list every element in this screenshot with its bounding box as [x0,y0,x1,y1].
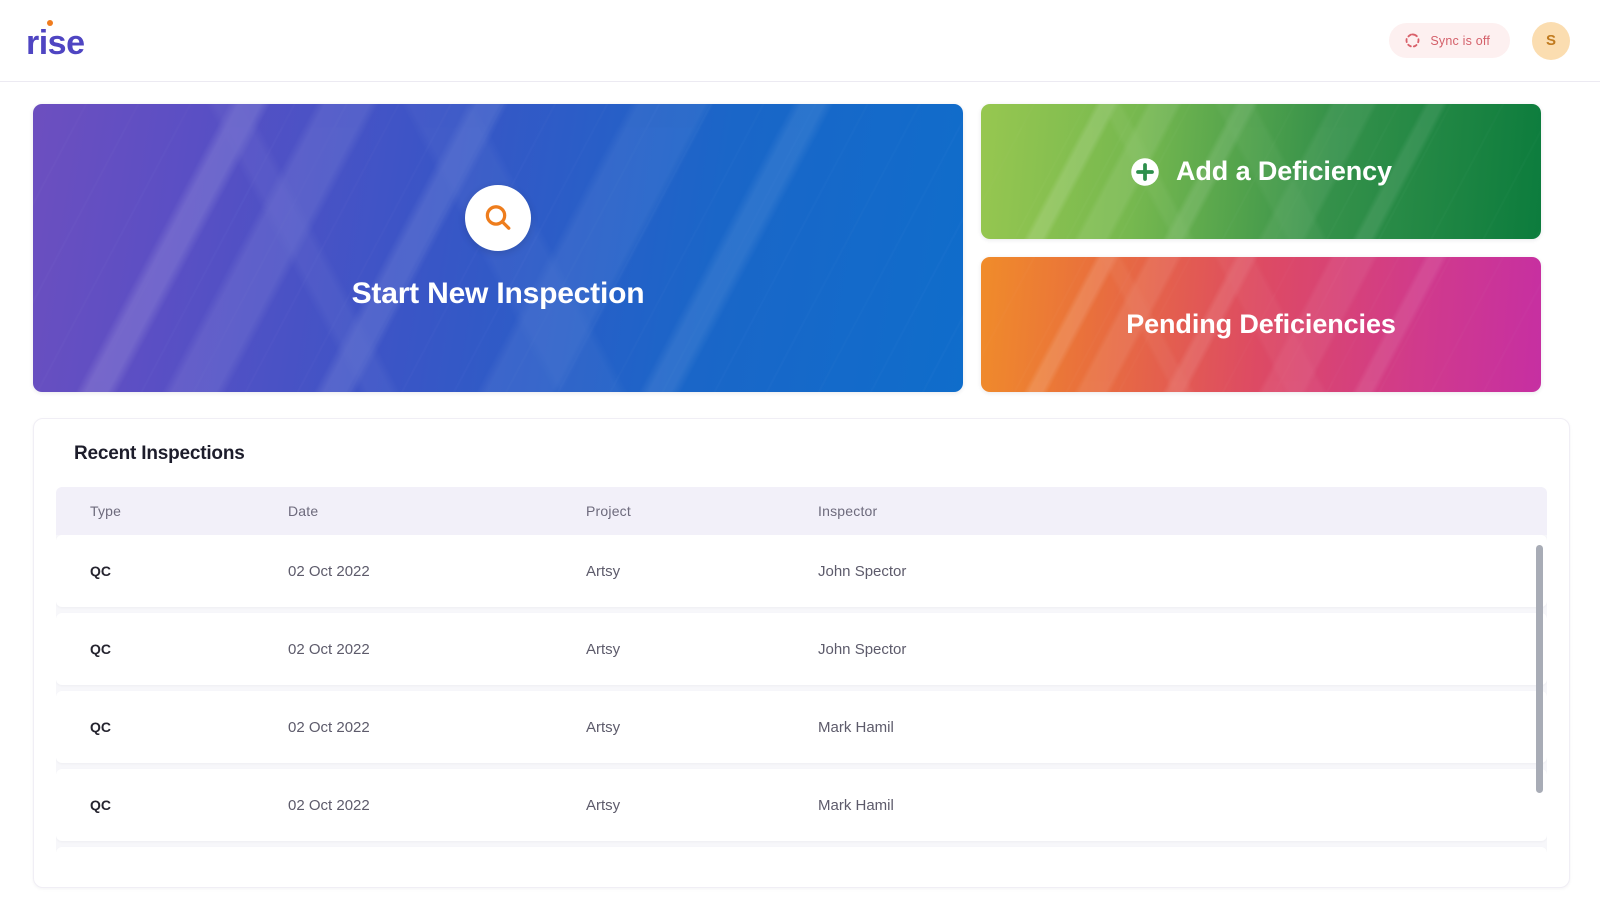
cell-type: QC [56,719,288,735]
cell-date: 02 Oct 2022 [288,719,586,736]
secondary-tiles: Add a Deficiency Pending Deficiencies [981,104,1541,392]
cell-inspector: Mark Hamil [818,797,1547,814]
sync-off-icon [1404,32,1421,49]
table-body[interactable]: QC 02 Oct 2022 Artsy John Spector QC 02 … [56,535,1547,865]
cell-date: 02 Oct 2022 [288,797,586,814]
rise-logo[interactable]: rise [26,22,85,60]
pending-deficiencies-content: Pending Deficiencies [1126,309,1396,340]
pending-deficiencies-tile[interactable]: Pending Deficiencies [981,257,1541,392]
add-deficiency-label: Add a Deficiency [1176,156,1392,187]
cell-date: 02 Oct 2022 [288,641,586,658]
cell-type: QC [56,563,288,579]
column-header-type: Type [56,503,288,519]
plus-circle-icon [1130,157,1160,187]
table-scrollbar[interactable] [1536,545,1543,871]
table-row[interactable]: QC 02 Oct 2022 Artsy John Spector [56,613,1547,685]
avatar[interactable]: S [1532,22,1570,60]
column-header-date: Date [288,503,586,519]
avatar-initial: S [1546,32,1556,49]
cell-inspector: John Spector [818,641,1547,658]
pending-deficiencies-label: Pending Deficiencies [1126,309,1396,339]
cell-project: Artsy [586,797,818,814]
start-new-inspection-label: Start New Inspection [352,277,645,311]
table-row[interactable]: QC 02 Oct 2022 Artsy Mark Hamil [56,769,1547,841]
column-header-project: Project [586,503,818,519]
recent-inspections-panel: Recent Inspections Type Date Project Ins… [33,418,1570,888]
header-actions: Sync is off S [1389,22,1570,60]
search-icon [465,185,531,251]
main-content: Start New Inspection Add a Deficiency [0,82,1600,888]
table-scrollbar-thumb[interactable] [1536,545,1543,793]
cell-inspector: Mark Hamil [818,719,1547,736]
table-header-row: Type Date Project Inspector [56,487,1547,535]
cell-inspector: John Spector [818,563,1547,580]
cell-project: Artsy [586,719,818,736]
add-deficiency-content: Add a Deficiency [1130,156,1392,187]
logo-dot-icon [47,20,53,26]
column-header-inspector: Inspector [818,503,1547,519]
app-header: rise Sync is off S [0,0,1600,82]
cell-type: QC [56,641,288,657]
cell-project: Artsy [586,641,818,658]
recent-inspections-table: Type Date Project Inspector QC 02 Oct 20… [56,487,1547,871]
cell-type: QC [56,797,288,813]
table-row[interactable]: QC 02 Oct 2022 Artsy Mark Hamil [56,847,1547,865]
sync-status-badge[interactable]: Sync is off [1389,23,1510,58]
start-new-inspection-tile[interactable]: Start New Inspection [33,104,963,392]
cell-project: Artsy [586,563,818,580]
logo-text: rise [26,24,85,62]
sync-status-label: Sync is off [1430,34,1490,48]
table-row[interactable]: QC 02 Oct 2022 Artsy Mark Hamil [56,691,1547,763]
page-title: Recent Inspections [74,443,1547,465]
cell-date: 02 Oct 2022 [288,563,586,580]
add-deficiency-tile[interactable]: Add a Deficiency [981,104,1541,239]
start-new-inspection-content: Start New Inspection [352,185,645,311]
action-tiles: Start New Inspection Add a Deficiency [33,104,1570,392]
table-row[interactable]: QC 02 Oct 2022 Artsy John Spector [56,535,1547,607]
